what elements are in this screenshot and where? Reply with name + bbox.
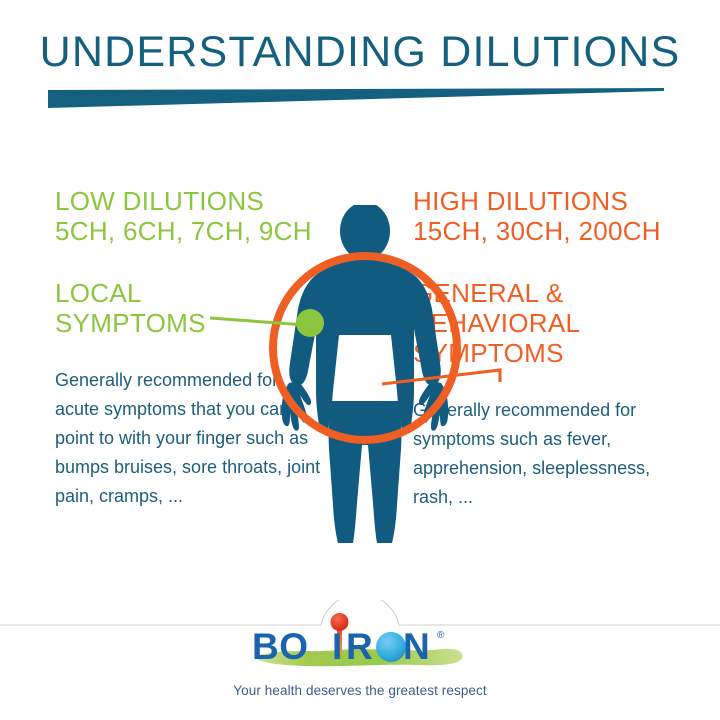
local-symptoms-line1: LOCAL bbox=[55, 278, 206, 308]
svg-text:R: R bbox=[346, 626, 373, 667]
infographic-page: UNDERSTANDING DILUTIONS LOW DILUTIONS 5C… bbox=[0, 0, 720, 720]
boiron-logo: BO I R N ® bbox=[248, 612, 472, 674]
body-figure-graphic bbox=[240, 205, 490, 545]
logo-blue-circle bbox=[376, 632, 406, 662]
svg-text:N: N bbox=[403, 626, 430, 667]
svg-text:I: I bbox=[332, 626, 343, 667]
page-title: UNDERSTANDING DILUTIONS bbox=[0, 28, 720, 77]
svg-text:BO: BO bbox=[252, 626, 309, 667]
title-underline-shape bbox=[48, 88, 664, 110]
logo-registered-mark: ® bbox=[437, 630, 445, 641]
local-symptoms-subheading: LOCAL SYMPTOMS bbox=[55, 278, 206, 338]
brand-tagline: Your health deserves the greatest respec… bbox=[0, 683, 720, 698]
local-symptoms-line2: SYMPTOMS bbox=[55, 308, 206, 338]
local-symptom-marker-dot bbox=[296, 309, 324, 337]
title-underline-rule bbox=[48, 88, 664, 110]
